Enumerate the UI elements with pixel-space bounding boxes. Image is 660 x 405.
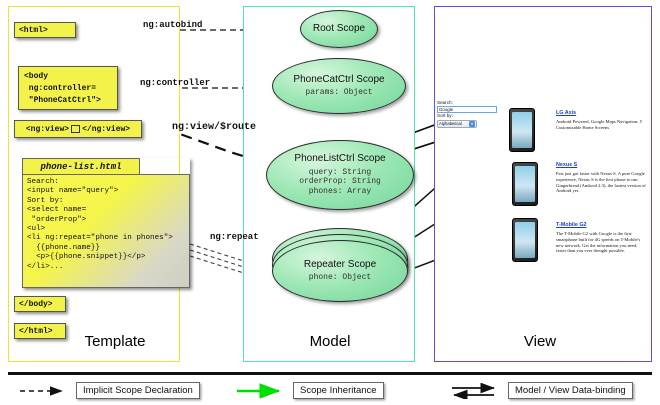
legend-label: Implicit Scope Declaration [76,382,200,399]
phone-thumbnail[interactable] [512,218,538,262]
sort-select-value: Alphabetical [439,120,462,127]
phone-snippet: The T-Mobile G2 with Google is the first… [556,231,648,254]
phone-thumbnail[interactable] [512,162,538,206]
double-arrow-icon [450,383,502,399]
code-box-html-close: </html> [14,323,66,339]
phone-screen-icon [512,112,532,148]
scope-phonelistctrl-props: query: String orderProp: String phones: … [299,168,381,197]
scope-root: Root Scope [300,10,378,48]
phone-snippet: Fast just got faster with Nexus S. A pur… [556,171,648,194]
legend-label: Scope Inheritance [293,382,384,399]
dashed-arrow-icon [18,383,70,399]
code-box-body-close: </body> [14,296,66,312]
edge-label-autobind: ng:autobind [143,20,202,30]
code-box-body-open: <body ng:controller= "PhoneCatCtrl"> [18,66,118,110]
sort-label: Sort by: [437,113,499,119]
scope-repeater-props: phone: Object [309,273,371,283]
ngview-close-tag: </ng:view> [82,125,130,134]
phone-screen-icon [515,222,535,258]
list-item: T-Mobile G2 The T-Mobile G2 with Google … [556,222,648,254]
scope-phonecatctrl: PhoneCatCtrl Scope params: Object [272,58,406,114]
phone-name-link[interactable]: Nexus S [556,162,648,169]
panel-label-template: Template [60,333,170,350]
scope-phonelistctrl: PhoneListCtrl Scope query: String orderP… [266,140,414,210]
legend-item-data-binding: Model / View Data-binding [450,382,633,399]
edge-label-ngrepeat: ng:repeat [210,232,259,242]
phone-snippet: Android Powered, Google Maps Navigation,… [556,119,648,131]
legend-divider [8,372,652,375]
search-input[interactable]: Google [437,106,497,113]
legend-item-scope-inheritance: Scope Inheritance [235,382,384,399]
scope-root-name: Root Scope [313,23,365,35]
phone-name-link[interactable]: T-Mobile G2 [556,222,648,229]
scope-repeater: Repeater Scope phone: Object [272,240,408,302]
phone-name-link[interactable]: LG Axis [556,110,648,117]
note-title: phone-list.html [22,158,140,175]
phone-thumbnail[interactable] [509,108,535,152]
code-box-ngview: <ng:view> </ng:view> [14,120,142,138]
legend: Implicit Scope Declaration Scope Inherit… [0,372,660,405]
edge-label-controller: ng:controller [140,78,210,88]
panel-label-view: View [485,333,595,350]
scope-repeater-name: Repeater Scope [304,259,376,271]
scope-phonelistctrl-name: PhoneListCtrl Scope [294,153,385,165]
chevron-down-icon: ▾ [469,121,475,127]
ngview-placeholder-icon [71,125,80,133]
list-item: LG Axis Android Powered, Google Maps Nav… [556,110,648,131]
ngview-open-tag: <ng:view> [26,125,69,134]
scope-phonecatctrl-name: PhoneCatCtrl Scope [293,74,384,86]
code-box-html-open: <html> [14,22,76,38]
legend-item-implicit-scope: Implicit Scope Declaration [18,382,200,399]
green-arrow-icon [235,383,287,399]
edge-label-ngview-route: ng:view/$route [172,122,256,133]
phone-screen-icon [515,166,535,202]
scope-phonecatctrl-props: params: Object [305,88,372,98]
panel-label-model: Model [275,333,385,350]
note-phone-list-html: phone-list.html Search: <input name="que… [22,158,190,288]
note-code: Search: <input name="query"> Sort by: <s… [22,174,190,288]
view-search-form: Search: Google Sort by: Alphabetical ▾ [437,100,499,128]
sort-select[interactable]: Alphabetical ▾ [437,120,477,128]
list-item: Nexus S Fast just got faster with Nexus … [556,162,648,194]
legend-label: Model / View Data-binding [508,382,633,399]
